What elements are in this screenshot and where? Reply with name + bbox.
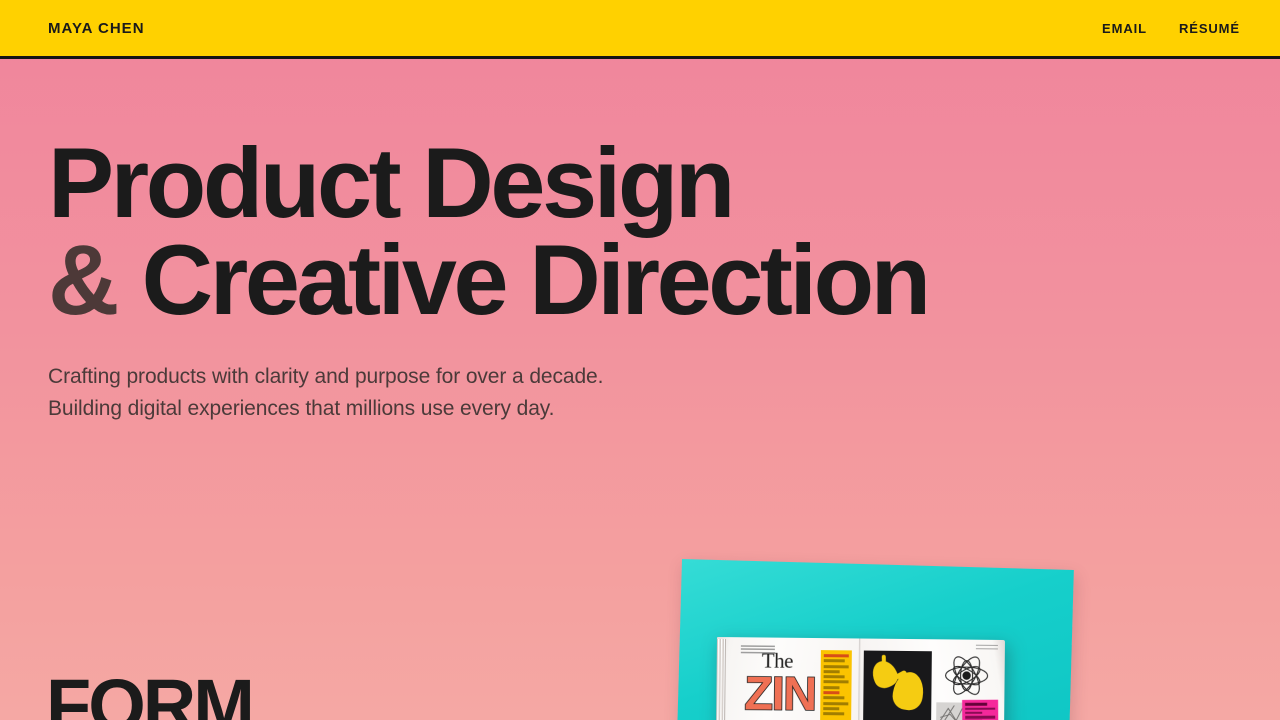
sidebar-text-line bbox=[824, 665, 849, 668]
magazine-left-page: The ZIN bbox=[716, 637, 859, 720]
sidebar-text-line bbox=[823, 707, 839, 710]
yellow-sidebar-column bbox=[820, 650, 852, 720]
sidebar-heading-line bbox=[824, 654, 849, 657]
magazine-zine-title: ZIN bbox=[744, 669, 816, 717]
atom-diagram-icon bbox=[942, 651, 991, 700]
sidebar-text-line bbox=[823, 696, 844, 699]
section-heading-form: FORM bbox=[46, 669, 252, 720]
hero-subtitle-line-2: Building digital experiences that millio… bbox=[48, 397, 554, 420]
note-text-line bbox=[965, 708, 995, 711]
headline-line-2: Creative Direction bbox=[142, 224, 928, 335]
brand-logo[interactable]: MAYA CHEN bbox=[48, 20, 145, 37]
nav-link-email[interactable]: EMAIL bbox=[1102, 21, 1147, 36]
sidebar-text-line bbox=[824, 675, 845, 678]
sidebar-text-line bbox=[823, 702, 848, 705]
sidebar-text-line bbox=[824, 670, 840, 673]
black-photo-plate bbox=[863, 651, 932, 720]
portfolio-landing-page: MAYA CHEN EMAIL RÉSUMÉ Product Design & … bbox=[0, 0, 1280, 720]
site-header: MAYA CHEN EMAIL RÉSUMÉ bbox=[0, 0, 1280, 59]
sidebar-heading-line bbox=[823, 691, 839, 694]
magazine-right-page bbox=[858, 638, 1005, 720]
sidebar-text-line bbox=[823, 686, 839, 689]
hero-section: Product Design & Creative Direction Craf… bbox=[0, 59, 1280, 425]
open-magazine-spread: The ZIN bbox=[716, 637, 1005, 720]
sidebar-text-line bbox=[823, 712, 844, 715]
headline-ampersand: & bbox=[48, 224, 118, 335]
sidebar-text-line bbox=[824, 681, 849, 684]
nav-link-resume[interactable]: RÉSUMÉ bbox=[1179, 21, 1240, 36]
magazine-spine bbox=[858, 638, 861, 720]
note-heading-line bbox=[965, 703, 987, 706]
note-text-line bbox=[965, 712, 982, 714]
pink-sticky-note bbox=[962, 700, 998, 720]
magazine-showcase-image: The ZIN bbox=[660, 545, 1100, 720]
sidebar-text-line bbox=[824, 659, 845, 662]
hero-subtitle-line-1: Crafting products with clarity and purpo… bbox=[48, 365, 603, 388]
pear-illustration bbox=[890, 670, 926, 712]
headline-line-1: Product Design bbox=[48, 127, 732, 238]
hero-subtitle: Crafting products with clarity and purpo… bbox=[48, 361, 1280, 425]
primary-navigation: EMAIL RÉSUMÉ bbox=[1102, 21, 1240, 36]
note-text-line bbox=[965, 716, 995, 719]
page-title: Product Design & Creative Direction bbox=[48, 134, 1280, 328]
page-edge-stack bbox=[716, 639, 726, 720]
